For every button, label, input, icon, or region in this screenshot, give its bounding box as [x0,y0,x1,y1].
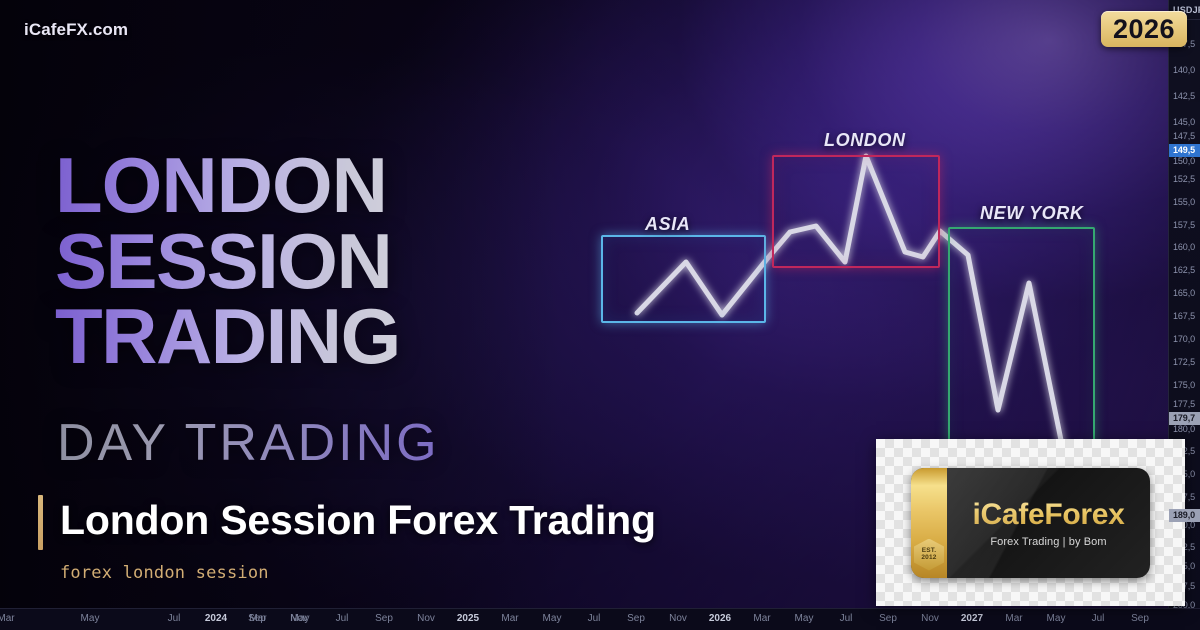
time-tick: Mar [0,613,15,624]
time-tick: 2026 [709,613,731,624]
headline-line-3: TRADING [55,299,575,375]
promo-banner: ASIALONDONNEW YORK USDJPY 137,5140,0142,… [0,0,1200,630]
year-badge: 2026 [1101,11,1187,47]
session-box-asia [601,235,766,323]
time-tick: May [795,613,814,624]
time-tick: Nov [921,613,939,624]
time-tick: Jul [336,613,349,624]
site-brand[interactable]: iCafeFX.com [24,20,128,40]
price-tick: 152,5 [1169,173,1200,186]
time-tick: Mar [501,613,518,624]
time-tick: Sep [879,613,897,624]
price-tick: 142,5 [1169,90,1200,103]
price-tick: 165,0 [1169,287,1200,300]
price-axis[interactable]: USDJPY 137,5140,0142,5145,0147,5149,5150… [1168,0,1200,611]
price-tick: 189,0 [1169,509,1200,522]
headline-line-2: SESSION [55,224,575,300]
price-tick: 155,0 [1169,196,1200,209]
established-badge-icon: EST. 2012 [914,539,944,571]
time-tick: Jul [840,613,853,624]
session-label-new-york: NEW YORK [980,203,1083,224]
hero-subheadline: DAY TRADING [57,413,440,473]
price-tick: 162,5 [1169,264,1200,277]
time-tick: May [81,613,100,624]
est-year: 2012 [921,555,936,562]
price-tick: 175,0 [1169,379,1200,392]
price-tick: 167,5 [1169,310,1200,323]
time-tick: 2027 [961,613,983,624]
time-tick: Nov [417,613,435,624]
time-tick: Mar [753,613,770,624]
time-tick: Jul [168,613,181,624]
logo-card[interactable]: EST. 2012 iCafeForex Forex Trading | by … [876,439,1185,606]
session-box-london [772,155,940,268]
time-tick: Jul [1092,613,1105,624]
logo-gold-strip: EST. 2012 [911,468,947,578]
page-title: London Session Forex Trading [60,497,656,544]
page-subtitle: forex london session [60,563,269,583]
price-tick: 172,5 [1169,356,1200,369]
time-axis[interactable]: MarMayJulSepNov2024MarMayJulSepNov2025Ma… [0,608,1200,630]
time-tick: Sep [1131,613,1149,624]
title-accent-bar [38,495,43,550]
time-tick: May [291,613,310,624]
logo-plate: EST. 2012 iCafeForex Forex Trading | by … [911,468,1150,578]
time-tick: Mar [249,613,266,624]
price-tick: 177,5 [1169,398,1200,411]
session-label-london: LONDON [824,130,906,151]
price-tick: 157,5 [1169,219,1200,232]
price-tick: 145,0 [1169,116,1200,129]
logo-name: iCafeForex [972,498,1124,532]
time-tick: May [543,613,562,624]
time-tick: Sep [627,613,645,624]
time-tick: Jul [588,613,601,624]
price-tick: 160,0 [1169,241,1200,254]
price-tick: 179,7 [1169,412,1200,425]
time-tick: 2024 [205,613,227,624]
time-tick: 2025 [457,613,479,624]
session-label-asia: ASIA [645,214,690,235]
headline-line-1: LONDON [55,148,575,224]
time-tick: Mar [1005,613,1022,624]
price-tick: 147,5 [1169,130,1200,143]
logo-tagline: Forex Trading | by Bom [990,536,1106,548]
price-tick: 140,0 [1169,64,1200,77]
time-tick: May [1047,613,1066,624]
hero-headline: LONDON SESSION TRADING [55,148,575,375]
price-tick: 170,0 [1169,333,1200,346]
price-tick: 149,5 [1169,144,1200,157]
session-box-new-york [948,227,1095,452]
logo-text-wrap: iCafeForex Forex Trading | by Bom [947,468,1150,578]
time-tick: Sep [375,613,393,624]
time-tick: Nov [669,613,687,624]
